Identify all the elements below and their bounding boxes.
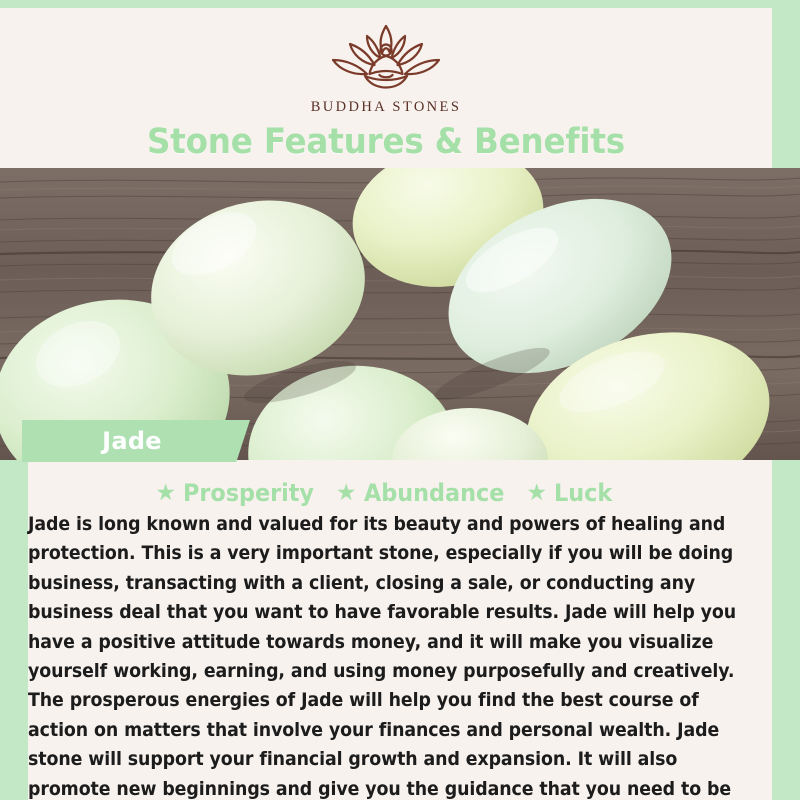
stone-name-label: Jade — [102, 427, 162, 455]
stone-name-ribbon: Jade — [22, 420, 250, 462]
star-icon: ★ — [336, 481, 357, 504]
brand-name: BUDDHA STONES — [311, 99, 462, 116]
star-icon: ★ — [155, 481, 176, 504]
poster-header: BUDDHA STONES Stone Features & Benefits — [0, 8, 772, 168]
page-title: Stone Features & Benefits — [147, 125, 625, 160]
benefit-item-luck: ★ Luck — [526, 481, 616, 505]
brand-logo: BUDDHA STONES — [311, 22, 462, 116]
benefit-item-abundance: ★ Abundance — [336, 481, 515, 505]
benefits-row: ★ Prosperity ★ Abundance ★ Luck — [0, 476, 772, 510]
green-accent-band-right — [772, 455, 800, 800]
star-icon: ★ — [526, 481, 547, 504]
poster-root: BUDDHA STONES Stone Features & Benefits — [0, 0, 800, 800]
lotus-meditation-icon — [311, 22, 461, 92]
jade-stones-photo — [0, 168, 800, 460]
benefit-label: Prosperity — [183, 481, 314, 505]
benefit-item-prosperity: ★ Prosperity — [155, 481, 323, 505]
benefit-label: Abundance — [364, 481, 504, 505]
benefit-label: Luck — [554, 481, 612, 505]
stone-description: Jade is long known and valued for its be… — [28, 510, 739, 800]
